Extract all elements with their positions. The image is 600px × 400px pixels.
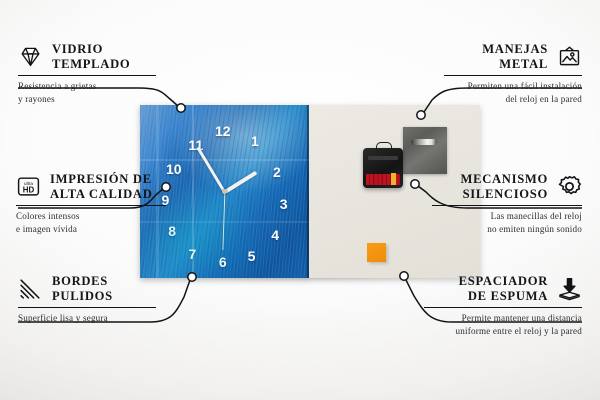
callout-title-line2: SILENCIOSO xyxy=(461,187,548,202)
clock-numeral-8: 8 xyxy=(168,224,176,238)
arrow-down-onto-pad-icon xyxy=(557,276,582,301)
callout-title-line2: DE ESPUMA xyxy=(459,289,548,304)
callout-subtitle-line1: Superficie lisa y segura xyxy=(18,313,108,323)
clock-numeral-11: 11 xyxy=(188,138,203,152)
ultra-hd-badge-icon: ultra HD xyxy=(16,174,41,199)
callout-rule xyxy=(432,205,582,207)
callout-subtitle-line2: e imagen vívida xyxy=(16,224,77,234)
callout-subtitle-line1: Permiten una fácil instalación xyxy=(468,81,582,91)
foam-spacer xyxy=(367,243,386,262)
callout-header: BORDES PULIDOS xyxy=(18,274,156,304)
svg-text:HD: HD xyxy=(23,186,35,195)
callout-subtitle-line1: Colores intensos xyxy=(16,211,80,221)
clock-numeral-7: 7 xyxy=(188,247,196,261)
callout-subtitle-line2: del reloj en la pared xyxy=(506,94,582,104)
clock-numeral-4: 4 xyxy=(271,228,279,242)
callout-title-line1: VIDRIO xyxy=(52,42,103,56)
clock-numeral-5: 5 xyxy=(248,249,256,263)
callout-header: MECANISMO SILENCIOSO xyxy=(432,172,582,202)
callout-subtitle-line2: y rayones xyxy=(18,94,55,104)
callout-rule xyxy=(444,75,582,77)
callout-header: ESPACIADOR DE ESPUMA xyxy=(424,274,582,304)
mechanism-label xyxy=(366,174,400,185)
callout-header: MANEJAS METAL xyxy=(444,42,582,72)
callout-header: ultra HD IMPRESIÓN DE ALTA CALIDAD xyxy=(16,172,166,202)
callout-subtitle: Permite mantener una distancia uniforme … xyxy=(424,312,582,337)
clock-second-hand xyxy=(222,191,225,249)
callout-subtitle-line1: Resistencia a grietas xyxy=(18,81,96,91)
mechanism-hook xyxy=(376,142,392,151)
callout-title-line2: PULIDOS xyxy=(52,289,113,304)
callout-title-line2: TEMPLADO xyxy=(52,57,130,72)
polished-edge-lines-icon xyxy=(18,276,43,301)
gear-icon xyxy=(557,174,582,199)
callout-subtitle: Las manecillas del reloj no emiten ningú… xyxy=(432,210,582,235)
clock-numeral-1: 1 xyxy=(251,134,259,148)
callout-bordes-pulidos: BORDES PULIDOS Superficie lisa y segura xyxy=(18,274,156,325)
callout-rule xyxy=(16,205,166,207)
callout-title-line2: METAL xyxy=(482,57,548,72)
callout-rule xyxy=(18,307,156,309)
callout-title-line1: IMPRESIÓN DE xyxy=(50,172,152,186)
callout-rule xyxy=(18,75,156,77)
callout-subtitle: Resistencia a grietas y rayones xyxy=(18,80,156,105)
callout-title-line1: MANEJAS xyxy=(482,42,548,56)
callout-espaciador-espuma: ESPACIADOR DE ESPUMA Permite mantener un… xyxy=(424,274,582,337)
clock-hour-hand xyxy=(223,170,256,193)
callout-subtitle: Superficie lisa y segura xyxy=(18,312,156,324)
mechanism-slot xyxy=(368,156,398,160)
clock-numeral-6: 6 xyxy=(219,255,227,269)
callout-subtitle-line1: Las manecillas del reloj xyxy=(491,211,582,221)
hanger-slot xyxy=(411,139,437,145)
clock-numeral-12: 12 xyxy=(215,124,231,138)
clock-numeral-3: 3 xyxy=(280,197,288,211)
callout-mecanismo-silencioso: MECANISMO SILENCIOSO Las manecillas del … xyxy=(432,172,582,235)
callout-subtitle-line1: Permite mantener una distancia xyxy=(462,313,582,323)
quartz-mechanism xyxy=(363,148,403,188)
hanging-picture-frame-icon xyxy=(557,44,582,69)
callout-title-line1: BORDES xyxy=(52,274,108,288)
clock-numeral-2: 2 xyxy=(273,165,281,179)
callout-title: MECANISMO SILENCIOSO xyxy=(461,172,548,202)
callout-header: VIDRIO TEMPLADO xyxy=(18,42,156,72)
callout-title-line1: MECANISMO xyxy=(461,172,548,186)
callout-title: VIDRIO TEMPLADO xyxy=(52,42,130,72)
product-photo: 12 1 2 3 4 5 6 7 8 9 10 11 xyxy=(140,105,480,278)
callout-subtitle: Colores intensos e imagen vívida xyxy=(16,210,166,235)
callout-subtitle-line2: no emiten ningún sonido xyxy=(487,224,582,234)
diamond-icon xyxy=(18,44,43,69)
callout-title: ESPACIADOR DE ESPUMA xyxy=(459,274,548,304)
callout-title: IMPRESIÓN DE ALTA CALIDAD xyxy=(50,172,153,202)
callout-subtitle: Permiten una fácil instalación del reloj… xyxy=(444,80,582,105)
callout-title-line1: ESPACIADOR xyxy=(459,274,548,288)
callout-title-line2: ALTA CALIDAD xyxy=(50,187,153,202)
callout-title: BORDES PULIDOS xyxy=(52,274,113,304)
clock-center-cap xyxy=(222,189,227,194)
callout-vidrio-templado: VIDRIO TEMPLADO Resistencia a grietas y … xyxy=(18,42,156,105)
clock-minute-hand xyxy=(196,146,225,192)
infographic-stage: 12 1 2 3 4 5 6 7 8 9 10 11 xyxy=(0,0,600,400)
callout-subtitle-line2: uniforme entre el reloj y la pared xyxy=(456,326,582,336)
callout-manejas-metal: MANEJAS METAL Permiten una fácil instala… xyxy=(444,42,582,105)
clock-numeral-10: 10 xyxy=(166,162,182,176)
callout-impresion-alta-calidad: ultra HD IMPRESIÓN DE ALTA CALIDAD Color… xyxy=(16,172,166,235)
callout-rule xyxy=(424,307,582,309)
callout-title: MANEJAS METAL xyxy=(482,42,548,72)
metal-hanger xyxy=(403,127,447,174)
